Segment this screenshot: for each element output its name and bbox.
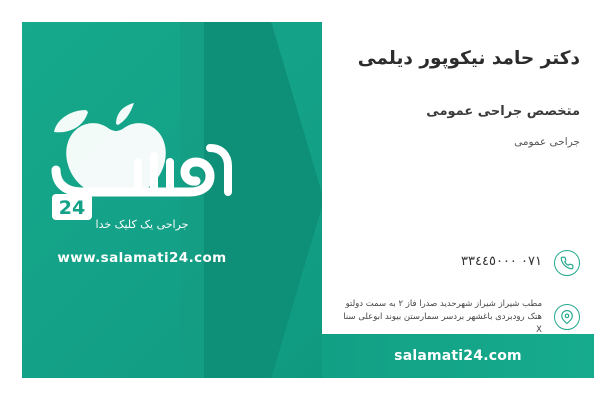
bottom-website-label[interactable]: salamati24.com [394, 348, 522, 364]
card-details: دکتر حامد نیکوپور دیلمی متخصص جراحی عموم… [322, 22, 594, 334]
bottom-website-strip: salamati24.com [322, 334, 594, 378]
left-teal-panel: 24 جراحی یک کلیک خدا www.salamati24.com [22, 22, 322, 378]
business-card: 24 جراحی یک کلیک خدا www.salamati24.com … [0, 0, 616, 400]
card-inner: 24 جراحی یک کلیک خدا www.salamati24.com … [22, 22, 594, 378]
brand-logo: 24 جراحی یک کلیک خدا www.salamati24.com [30, 100, 260, 290]
doctor-specialty-secondary: جراحی عمومی [330, 136, 580, 148]
phone-icon [554, 250, 580, 276]
phone-number: ٠٧١ ٣٣٤٤٥٠٠٠ [342, 254, 542, 269]
clinic-address: مطب شیراز شیراز شهرحدید صدرا فاز ۲ به سم… [337, 298, 542, 338]
logo-badge-24: 24 [59, 197, 85, 219]
logo-tagline: جراحی یک کلیک خدا [30, 218, 254, 231]
location-pin-icon [554, 304, 580, 330]
logo-website[interactable]: www.salamati24.com [30, 250, 254, 266]
doctor-name: دکتر حامد نیکوپور دیلمی [330, 48, 580, 69]
apple-logo-icon: 24 [30, 100, 254, 220]
doctor-specialty: متخصص جراحی عمومی [330, 104, 580, 119]
